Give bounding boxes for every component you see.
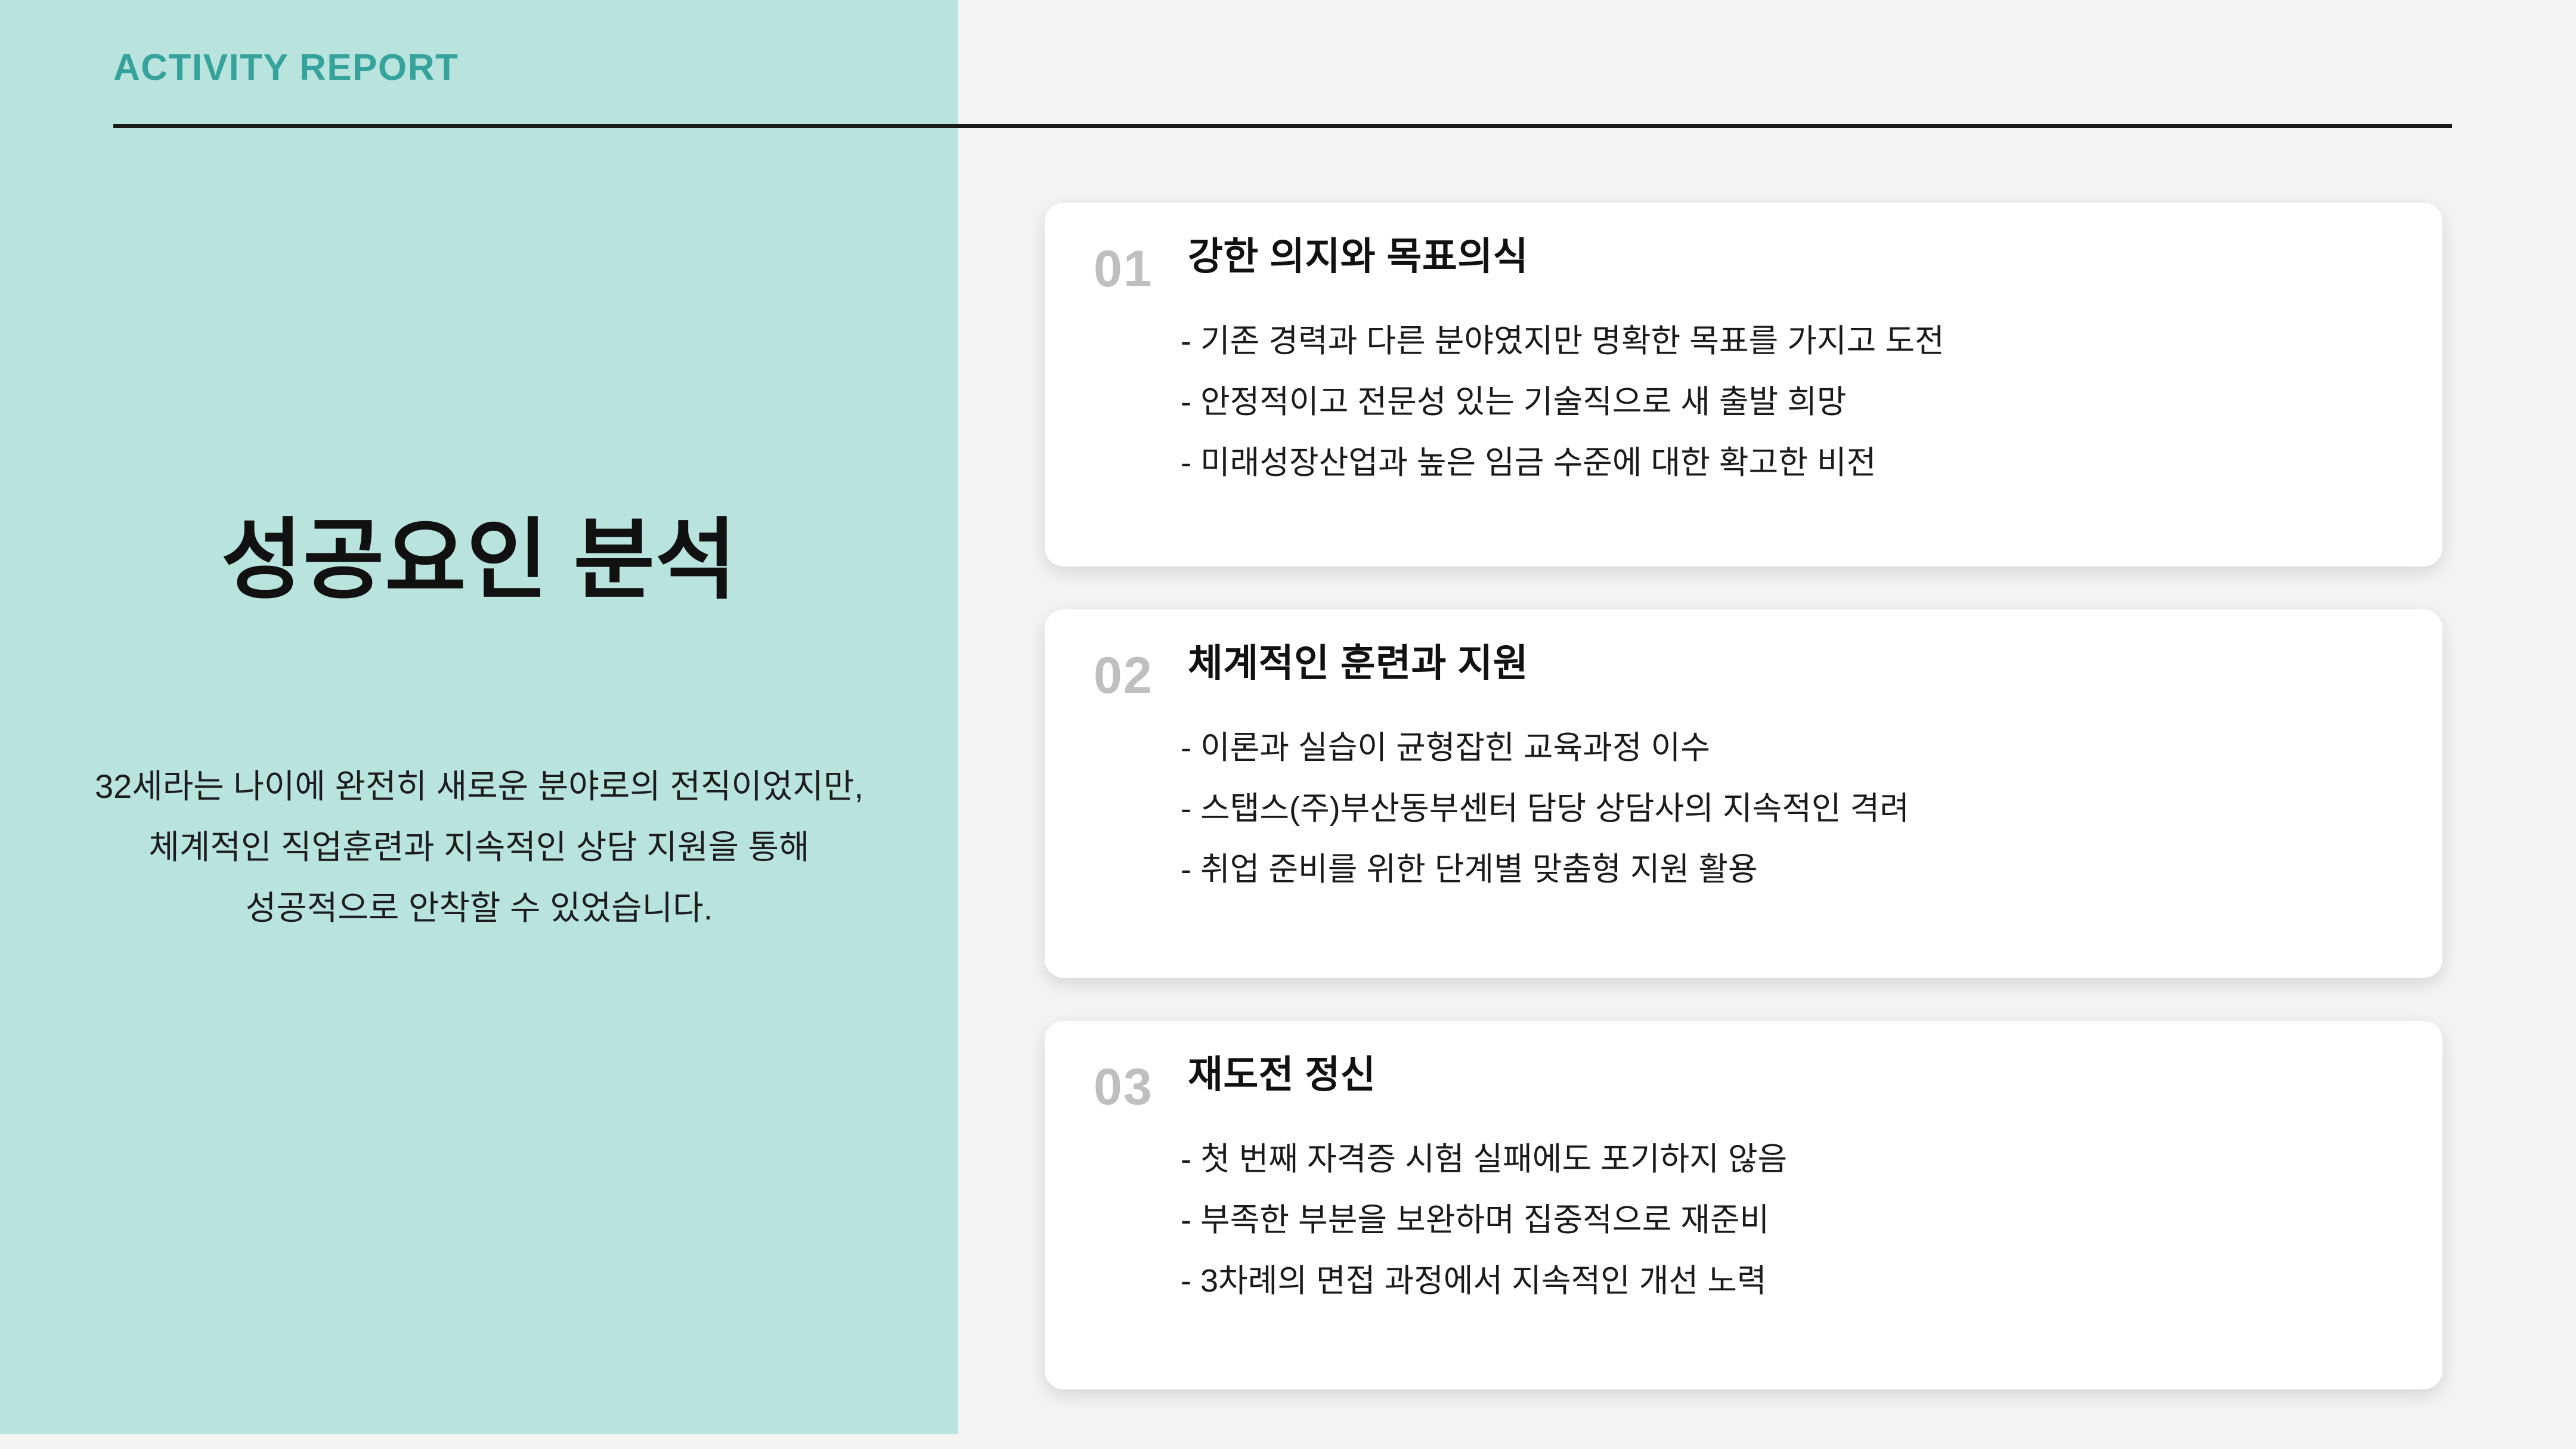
list-item: - 첫 번째 자격증 시험 실패에도 포기하지 않음 bbox=[1181, 1143, 2407, 1175]
description-line-3: 성공적으로 안착할 수 있었습니다. bbox=[0, 878, 958, 939]
list-item: - 취업 준비를 위한 단계별 맞춤형 지원 활용 bbox=[1181, 853, 2407, 885]
page-description: 32세라는 나이에 완전히 새로운 분야로의 전직이었지만, 체계적인 직업훈련… bbox=[0, 756, 958, 939]
description-line-2: 체계적인 직업훈련과 지속적인 상담 지원을 통해 bbox=[0, 817, 958, 878]
eyebrow-label: ACTIVITY REPORT bbox=[113, 47, 459, 89]
slide-root: ACTIVITY REPORT 성공요인 분석 32세라는 나이에 완전히 새로… bbox=[0, 0, 2576, 1449]
card-number: 02 bbox=[1094, 650, 1153, 701]
description-line-1: 32세라는 나이에 완전히 새로운 분야로의 전직이었지만, bbox=[0, 756, 958, 817]
list-item: - 부족한 부분을 보완하며 집중적으로 재준비 bbox=[1181, 1204, 2407, 1236]
card-number: 01 bbox=[1094, 243, 1153, 295]
card-bullet-list: - 기존 경력과 다른 분야였지만 명확한 목표를 가지고 도전 - 안정적이고… bbox=[1181, 325, 2407, 479]
card-bullet-list: - 이론과 실습이 균형잡힌 교육과정 이수 - 스탭스(주)부산동부센터 담당… bbox=[1181, 732, 2407, 885]
page-title: 성공요인 분석 bbox=[0, 510, 958, 611]
card-number: 03 bbox=[1094, 1061, 1153, 1113]
header-divider bbox=[113, 124, 2452, 128]
card-bullet-list: - 첫 번째 자격증 시험 실패에도 포기하지 않음 - 부족한 부분을 보완하… bbox=[1181, 1143, 2407, 1297]
left-panel: ACTIVITY REPORT 성공요인 분석 32세라는 나이에 완전히 새로… bbox=[0, 0, 958, 1434]
list-item: - 안정적이고 전문성 있는 기술직으로 새 출발 희망 bbox=[1181, 386, 2407, 418]
cards-container: 01 강한 의지와 목표의식 - 기존 경력과 다른 분야였지만 명확한 목표를… bbox=[1045, 203, 2442, 1432]
list-item: - 3차례의 면접 과정에서 지속적인 개선 노력 bbox=[1181, 1265, 2407, 1297]
factor-card-02[interactable]: 02 체계적인 훈련과 지원 - 이론과 실습이 균형잡힌 교육과정 이수 - … bbox=[1045, 609, 2442, 978]
list-item: - 스탭스(주)부산동부센터 담당 상담사의 지속적인 격려 bbox=[1181, 792, 2407, 825]
list-item: - 이론과 실습이 균형잡힌 교육과정 이수 bbox=[1181, 732, 2407, 764]
card-title: 강한 의지와 목표의식 bbox=[1188, 234, 1528, 280]
list-item: - 미래성장산업과 높은 임금 수준에 대한 확고한 비전 bbox=[1181, 447, 2407, 479]
card-title: 재도전 정신 bbox=[1188, 1052, 1376, 1098]
list-item: - 기존 경력과 다른 분야였지만 명확한 목표를 가지고 도전 bbox=[1181, 325, 2407, 357]
factor-card-01[interactable]: 01 강한 의지와 목표의식 - 기존 경력과 다른 분야였지만 명확한 목표를… bbox=[1045, 203, 2442, 566]
factor-card-03[interactable]: 03 재도전 정신 - 첫 번째 자격증 시험 실패에도 포기하지 않음 - 부… bbox=[1045, 1021, 2442, 1389]
card-title: 체계적인 훈련과 지원 bbox=[1188, 640, 1528, 686]
